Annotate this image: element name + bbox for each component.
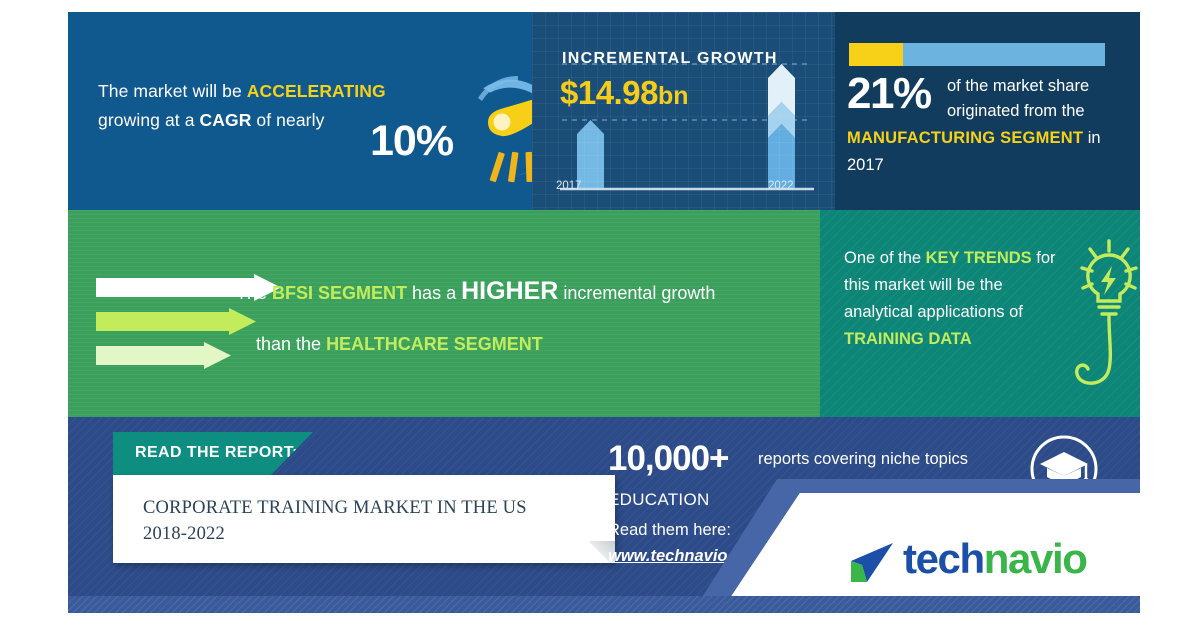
logo-text-navio: navio: [984, 535, 1087, 582]
trend-l3: analytical applications of: [844, 303, 1023, 321]
incr-unit: bn: [658, 82, 689, 110]
incr-amount: $14.98: [560, 74, 658, 111]
bfsi-accent-healthcare: HEALTHCARE SEGMENT: [326, 334, 543, 354]
cagr-bold-cagr: CAGR: [200, 110, 252, 130]
market-share-panel: 21% of the market share originated from …: [835, 12, 1140, 210]
logo-text-tech: tech: [903, 535, 984, 582]
speedometer-icon: [460, 54, 532, 189]
bfsi-l2-pre: than the: [256, 334, 326, 354]
bfsi-l1-mid: has a: [407, 283, 461, 303]
axis-label-2022: 2022: [768, 180, 794, 192]
read-here-label: Read them here:: [608, 521, 731, 540]
footer-panel: READ THE REPORT: CORPORATE TRAINING MARK…: [68, 417, 1140, 613]
cagr-line1-pre: The market will be: [98, 81, 247, 101]
market-share-value: 21%: [847, 72, 931, 116]
trend-accent-keytrends: KEY TRENDS: [926, 249, 1032, 267]
cagr-panel: The market will be ACCELERATING growing …: [68, 12, 532, 210]
technavio-wordmark: technavio: [903, 533, 1086, 585]
market-share-bar: [849, 43, 1105, 66]
technavio-logo[interactable]: technavio: [845, 535, 1100, 587]
bfsi-emphasis-higher: HIGHER: [461, 277, 558, 305]
read-the-report-label: READ THE REPORT:: [135, 444, 298, 462]
cagr-accent-accelerating: ACCELERATING: [247, 81, 386, 101]
key-trends-statement: One of the KEY TRENDS for this market wi…: [844, 245, 1059, 353]
trend-accent-trainingdata: TRAINING DATA: [844, 330, 972, 348]
reports-count: 10,000+: [608, 441, 729, 476]
bar-2022: [768, 64, 795, 188]
incremental-growth-title: INCREMENTAL GROWTH: [562, 50, 778, 68]
share-line2: originated from the: [947, 102, 1085, 120]
bar-2017: [577, 120, 604, 188]
infographic-root: The market will be ACCELERATING growing …: [0, 0, 1200, 627]
technavio-mark-icon: [845, 535, 897, 587]
report-category: EDUCATION: [608, 490, 710, 510]
market-share-text-bottom: MANUFACTURING SEGMENT in 2017: [847, 125, 1127, 179]
cagr-line2-post: of nearly: [251, 110, 324, 130]
arrow-pale-green: [96, 342, 231, 369]
share-line1: of the market share: [947, 77, 1089, 95]
arrow-bright-green: [96, 308, 256, 335]
axis-label-2017: 2017: [556, 180, 582, 192]
bfsi-accent-segment: BFSI SEGMENT: [272, 283, 407, 303]
bfsi-statement-line1: The BFSI SEGMENT has a HIGHER incrementa…: [236, 278, 715, 306]
bfsi-l1-pre: The: [236, 283, 272, 303]
market-share-bar-fill: [849, 43, 903, 66]
bfsi-statement-line2: than the HEALTHCARE SEGMENT: [256, 331, 543, 357]
key-trends-panel: One of the KEY TRENDS for this market wi…: [820, 210, 1140, 417]
cagr-line2-pre: growing at a: [98, 110, 200, 130]
read-the-report-tab: READ THE REPORT:: [113, 432, 313, 477]
report-title-line1: CORPORATE TRAINING MARKET IN THE US: [143, 498, 527, 518]
bfsi-l1-post: incremental growth: [558, 283, 715, 303]
bfsi-comparison-panel: The BFSI SEGMENT has a HIGHER incrementa…: [68, 210, 820, 417]
report-title-line2: 2018-2022: [143, 524, 225, 544]
trend-l1-pre: One of the: [844, 249, 926, 267]
share-line3-post: in: [1083, 129, 1100, 147]
share-accent-manufacturing: MANUFACTURING SEGMENT: [847, 129, 1083, 147]
trend-l2: this market will be the: [844, 276, 1003, 294]
reports-description: reports covering niche topics: [758, 450, 968, 469]
incremental-growth-value: $14.98bn: [560, 74, 688, 112]
cagr-value: 10%: [370, 120, 453, 163]
lightbulb-icon: [1052, 235, 1140, 405]
report-title-text: CORPORATE TRAINING MARKET IN THE US 2018…: [143, 495, 593, 547]
report-title-card[interactable]: CORPORATE TRAINING MARKET IN THE US 2018…: [113, 475, 615, 563]
footer-bottom-strip: [68, 596, 1140, 613]
share-line4-year: 2017: [847, 156, 884, 174]
market-share-text-top: of the market share originated from the: [947, 74, 1127, 124]
